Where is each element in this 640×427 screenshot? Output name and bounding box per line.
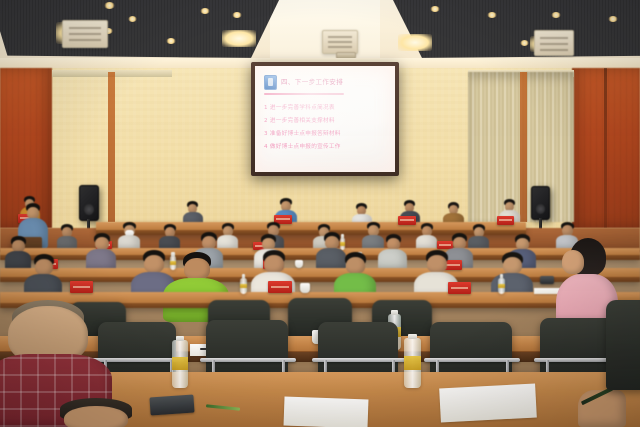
conference-room-photo: 四、下一步工作安排 1 进一步完善学科点简况表 2 进一步完善相关支撑材料 3 …	[0, 0, 640, 427]
projection-screen-frame: 四、下一步工作安排 1 进一步完善学科点简况表 2 进一步完善相关支撑材料 3 …	[251, 62, 399, 176]
ceiling-light	[166, 38, 176, 44]
water-bottle	[172, 340, 188, 388]
water-bottle	[240, 278, 247, 294]
attendee-hand-with-pen	[578, 384, 626, 427]
blue-book-logo-icon	[264, 75, 277, 90]
ceiling-ac-vent-left	[62, 20, 108, 48]
mobile-phone	[540, 276, 554, 284]
ceiling-panel-light	[222, 30, 256, 47]
attendee	[57, 224, 77, 250]
ceiling-light	[551, 12, 561, 18]
slide-header: 四、下一步工作安排	[264, 75, 387, 90]
slide-bullet-1: 1 进一步完善学科点简况表	[264, 106, 387, 112]
ceiling-ac-vent-center	[322, 30, 358, 54]
attendee-head-foreground	[50, 398, 142, 427]
ceiling-light	[200, 8, 210, 14]
slide-bullet-2: 2 进一步完善相关支撑材料	[264, 119, 387, 125]
curtain-gap-right	[520, 72, 527, 222]
head-table-placard	[497, 216, 514, 225]
name-placard	[268, 281, 292, 293]
attendee	[86, 233, 116, 271]
water-bottle	[404, 338, 421, 388]
ceiling-panel-light	[398, 34, 432, 51]
conference-chair[interactable]	[606, 300, 640, 390]
paper-sheet	[439, 384, 537, 423]
ceiling-light	[104, 2, 115, 9]
slide-bullet-4: 4 做好博士点申报的宣传工作	[264, 145, 387, 151]
attendee	[416, 223, 437, 250]
name-placard	[70, 281, 93, 293]
ceiling-panel-left	[0, 0, 280, 58]
ceiling-light	[430, 6, 440, 12]
tea-cup	[300, 283, 310, 293]
wall-panel-seam	[604, 68, 607, 228]
ceiling-light	[608, 16, 618, 22]
ceiling-light	[520, 40, 529, 46]
head-table-placard	[398, 216, 416, 225]
paper-sheet	[284, 397, 369, 427]
masked-attendee	[118, 222, 140, 250]
tea-cup	[295, 260, 303, 268]
slide-title: 四、下一步工作安排	[281, 79, 343, 86]
presentation-slide: 四、下一步工作安排 1 进一步完善学科点简况表 2 进一步完善相关支撑材料 3 …	[255, 66, 395, 172]
water-bottle	[498, 278, 505, 294]
curtain-gap-left	[108, 72, 115, 222]
slide-bullet-3: 3 准备好博士点申报答辩材料	[264, 132, 387, 138]
projection-screen: 四、下一步工作安排 1 进一步完善学科点简况表 2 进一步完善相关支撑材料 3 …	[255, 66, 395, 172]
attendee	[378, 234, 407, 270]
slide-bullet-list: 1 进一步完善学科点简况表 2 进一步完善相关支撑材料 3 准备好博士点申报答辩…	[264, 106, 387, 151]
ceiling-light	[487, 12, 497, 18]
attendee	[159, 224, 180, 250]
name-placard	[448, 282, 471, 294]
left-wall-speaker	[79, 185, 99, 221]
ceiling-ac-vent-right	[534, 30, 574, 56]
right-wall-speaker	[531, 186, 550, 220]
ceiling-light	[232, 12, 242, 18]
mobile-phone	[149, 394, 194, 415]
slide-title-underline	[264, 93, 344, 95]
ceiling-light	[128, 16, 137, 22]
